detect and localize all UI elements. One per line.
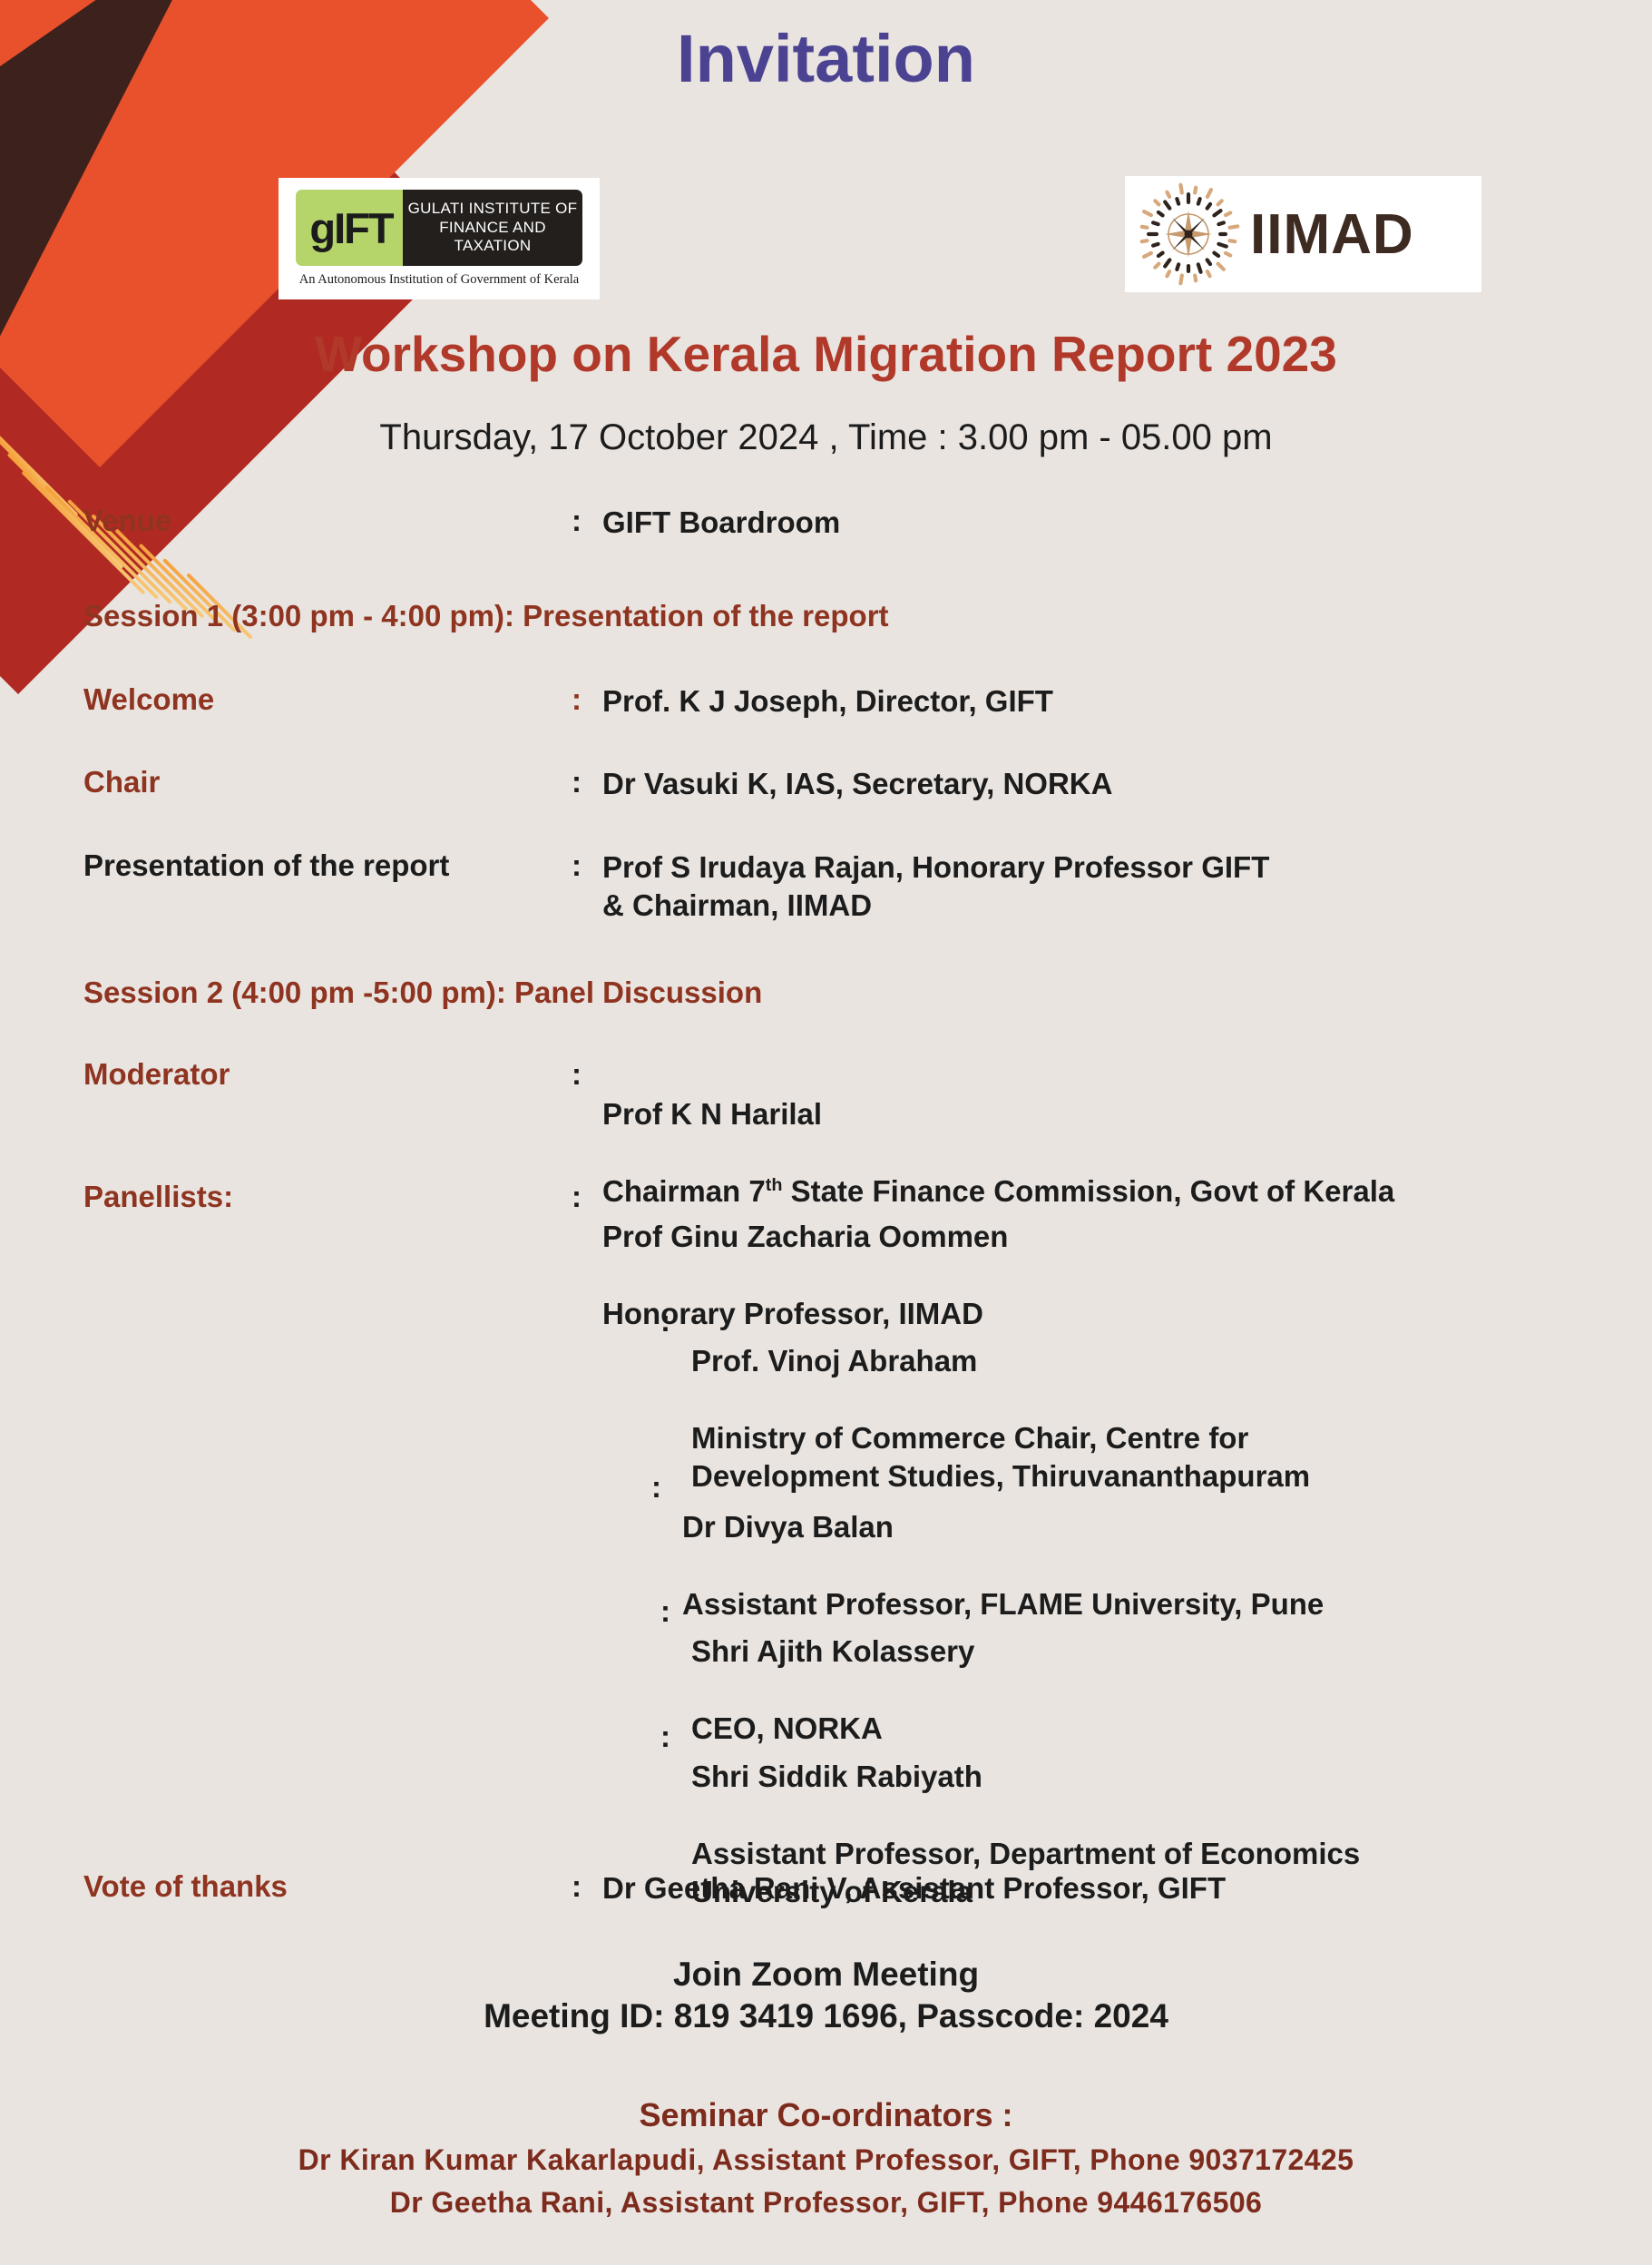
panellist-2-colon: : bbox=[651, 1470, 682, 1505]
chair-row: Chair : Dr Vasuki K, IAS, Secretary, NOR… bbox=[0, 765, 1112, 803]
panellist-4-colon: : bbox=[660, 1720, 691, 1754]
gift-logo-line2: FINANCE AND TAXATION bbox=[403, 219, 582, 256]
moderator-name: Prof K N Harilal bbox=[602, 1095, 1394, 1133]
moderator-colon: : bbox=[572, 1057, 602, 1092]
session-1-heading: Session 1 (3:00 pm - 4:00 pm): Presentat… bbox=[83, 599, 889, 633]
panellist-4-value: Shri Siddik Rabiyath Assistant Professor… bbox=[691, 1720, 1360, 1949]
session-2-heading: Session 2 (4:00 pm -5:00 pm): Panel Disc… bbox=[83, 976, 762, 1010]
page-title: Invitation bbox=[0, 20, 1652, 97]
zoom-meeting-block: Join Zoom Meeting Meeting ID: 819 3419 1… bbox=[0, 1956, 1652, 2035]
invitation-poster: Invitation gIFT GULATI INSTITUTE OF FINA… bbox=[0, 0, 1652, 2265]
gift-logo-line1: GULATI INSTITUTE OF bbox=[408, 200, 578, 219]
coordinators-block: Seminar Co-ordinators : Dr Kiran Kumar K… bbox=[0, 2096, 1652, 2220]
panellist-1-name: Prof. Vinoj Abraham bbox=[691, 1342, 1310, 1380]
compass-starburst-icon bbox=[1130, 180, 1246, 289]
coordinators-title: Seminar Co-ordinators : bbox=[0, 2096, 1652, 2134]
coordinator-1: Dr Kiran Kumar Kakarlapudi, Assistant Pr… bbox=[0, 2143, 1652, 2177]
presentation-value: Prof S Irudaya Rajan, Honorary Professor… bbox=[602, 848, 1269, 925]
moderator-label: Moderator bbox=[0, 1057, 572, 1092]
panellists-label: Panellists: bbox=[0, 1180, 572, 1214]
gift-logo: gIFT GULATI INSTITUTE OF FINANCE AND TAX… bbox=[279, 178, 600, 299]
panellist-1-colon: : bbox=[660, 1304, 691, 1338]
chair-colon: : bbox=[572, 765, 602, 799]
gift-logo-subtitle: An Autonomous Institution of Government … bbox=[299, 272, 579, 288]
panellist-4: : Shri Siddik Rabiyath Assistant Profess… bbox=[660, 1720, 1360, 1949]
iimad-logo-text: IIMAD bbox=[1250, 202, 1414, 267]
iimad-logo: IIMAD bbox=[1125, 176, 1481, 292]
vote-of-thanks-label: Vote of thanks bbox=[0, 1869, 572, 1904]
event-datetime: Thursday, 17 October 2024 , Time : 3.00 … bbox=[0, 417, 1652, 458]
welcome-row: Welcome : Prof. K J Joseph, Director, GI… bbox=[0, 682, 1053, 721]
zoom-meeting-title: Join Zoom Meeting bbox=[0, 1956, 1652, 1994]
venue-value: GIFT Boardroom bbox=[602, 504, 840, 542]
presentation-row: Presentation of the report : Prof S Irud… bbox=[0, 848, 1269, 925]
panellist-3-name: Shri Ajith Kolassery bbox=[691, 1633, 974, 1671]
coordinator-2: Dr Geetha Rani, Assistant Professor, GIF… bbox=[0, 2186, 1652, 2220]
panellist-0-name: Prof Ginu Zacharia Oommen bbox=[602, 1218, 1008, 1256]
welcome-value: Prof. K J Joseph, Director, GIFT bbox=[602, 682, 1053, 721]
vote-of-thanks-colon: : bbox=[572, 1869, 602, 1904]
vote-of-thanks-row: Vote of thanks : Dr Geetha Rani V, Assis… bbox=[0, 1869, 1226, 1907]
welcome-colon: : bbox=[572, 682, 602, 717]
panellist-4-name: Shri Siddik Rabiyath bbox=[691, 1758, 1360, 1796]
venue-colon: : bbox=[572, 504, 602, 538]
gift-logo-wordmark: GULATI INSTITUTE OF FINANCE AND TAXATION bbox=[403, 190, 582, 266]
gift-logo-bar: gIFT GULATI INSTITUTE OF FINANCE AND TAX… bbox=[296, 190, 582, 266]
panellist-3-colon: : bbox=[660, 1594, 691, 1629]
gift-logo-mark: gIFT bbox=[296, 190, 403, 266]
zoom-meeting-details: Meeting ID: 819 3419 1696, Passcode: 202… bbox=[0, 1997, 1652, 2035]
venue-label: Venue bbox=[0, 504, 572, 538]
vote-of-thanks-value: Dr Geetha Rani V, Assistant Professor, G… bbox=[602, 1869, 1226, 1907]
panellist-0-colon: : bbox=[572, 1180, 602, 1214]
presentation-label: Presentation of the report bbox=[0, 848, 572, 883]
chair-label: Chair bbox=[0, 765, 572, 799]
panellist-2-name: Dr Divya Balan bbox=[682, 1508, 1324, 1546]
presentation-colon: : bbox=[572, 848, 602, 883]
chair-value: Dr Vasuki K, IAS, Secretary, NORKA bbox=[602, 765, 1112, 803]
event-title: Workshop on Kerala Migration Report 2023 bbox=[0, 325, 1652, 383]
venue-row: Venue : GIFT Boardroom bbox=[0, 504, 840, 542]
welcome-label: Welcome bbox=[0, 682, 572, 717]
